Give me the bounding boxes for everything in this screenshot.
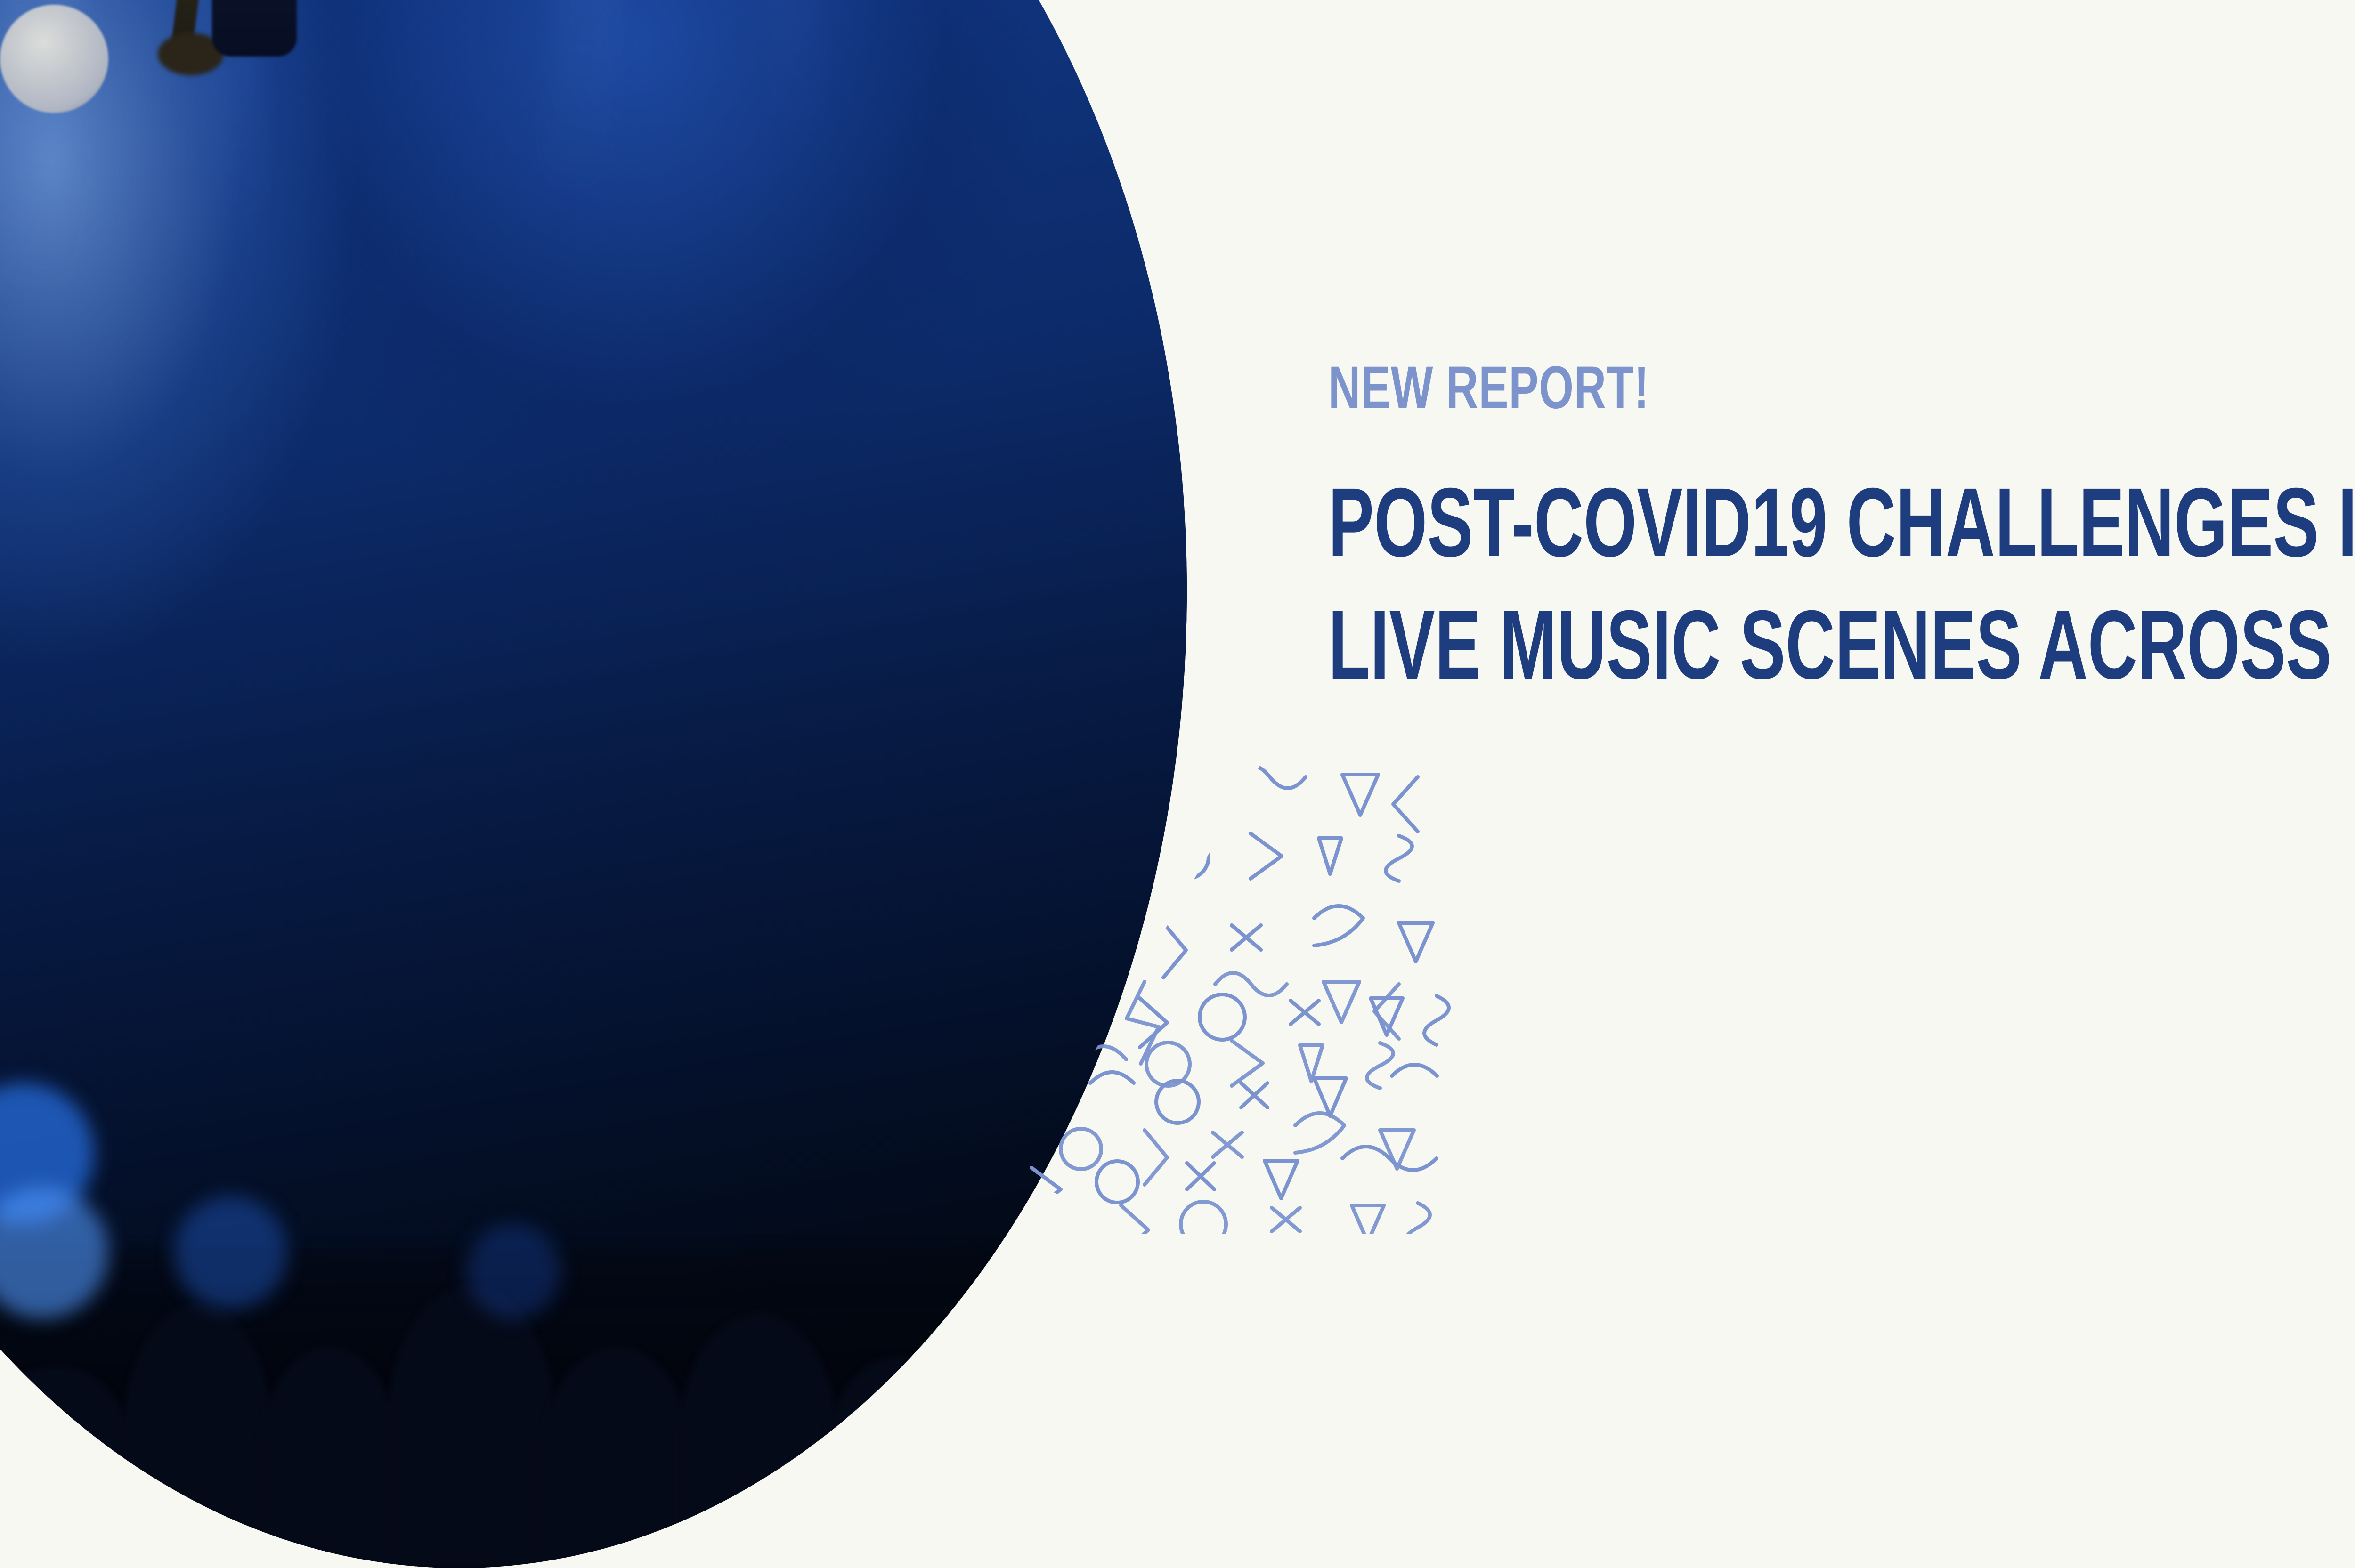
bokeh-light: [174, 1196, 287, 1309]
hero-photo-image: [0, 0, 1187, 1568]
saxophonist-body: [212, 0, 297, 57]
audience-head: [386, 1285, 556, 1568]
headline-block: NEW REPORT! POST-COVID19 CHALLENGES IN T…: [1328, 358, 2355, 694]
headline-line-1: POST-COVID19 CHALLENGES IN THE: [1328, 474, 2355, 572]
audience-head: [542, 1347, 692, 1568]
audience-head: [824, 1356, 975, 1568]
audience-head: [259, 1347, 400, 1568]
bass-drum-head: [0, 5, 108, 113]
audience-silhouettes: [0, 862, 1187, 1568]
banner-root: NEW REPORT! POST-COVID19 CHALLENGES IN T…: [0, 0, 2355, 1184]
hero-photo: [0, 0, 1187, 1568]
headline-line-2: LIVE MUSIC SCENES ACROSS EUROPE: [1328, 596, 2355, 694]
audience-head: [961, 1323, 1121, 1568]
audience-head: [122, 1304, 273, 1568]
audience-head: [678, 1314, 838, 1568]
bokeh-light: [466, 1224, 560, 1318]
eyebrow-label: NEW REPORT!: [1328, 358, 2355, 418]
